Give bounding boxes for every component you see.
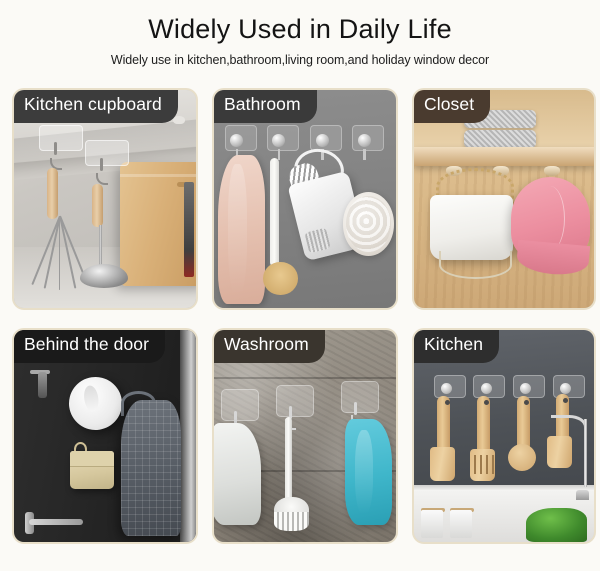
ladle: [80, 264, 128, 288]
wall-hook: [441, 383, 452, 394]
brush-head: [263, 262, 298, 295]
slotted-turner: [477, 396, 490, 455]
scenario-panel-behind-the-door[interactable]: Behind the door: [12, 328, 198, 544]
spatula-blade: [547, 436, 572, 468]
page-subtitle: Widely use in kitchen,bathroom,living ro…: [0, 53, 600, 67]
scenario-panel-bathroom[interactable]: Bathroom: [212, 88, 398, 310]
scenario-panel-closet[interactable]: Closet: [412, 88, 596, 310]
scenario-panel-kitchen-cupboard[interactable]: Kitchen cupboard: [12, 88, 198, 310]
scrub-brush-handle: [285, 417, 292, 502]
fresh-herbs: [526, 508, 587, 542]
door-handle: [29, 519, 84, 525]
adhesive-sticker: [85, 140, 129, 166]
scenario-panel-kitchen[interactable]: Kitchen: [412, 328, 596, 544]
wall-hook: [316, 134, 329, 147]
page-header: Widely Used in Daily Life Widely use in …: [0, 0, 600, 67]
plaid-coat: [121, 400, 181, 536]
body-brush: [270, 158, 279, 267]
wall-hook: [173, 116, 185, 124]
panel-label-kitchen: Kitchen: [412, 328, 499, 363]
door-lock: [38, 372, 47, 398]
panel-label-bathroom: Bathroom: [212, 88, 317, 123]
wall-hook: [358, 134, 371, 147]
page-title: Widely Used in Daily Life: [0, 14, 600, 44]
storage-jar: [421, 510, 443, 538]
photo-closet: [414, 90, 594, 308]
teal-towel: [345, 419, 392, 525]
shoulder-bag: [430, 195, 513, 260]
scenario-panel-washroom[interactable]: Washroom: [212, 328, 398, 544]
whisk-handle: [47, 168, 58, 218]
usage-scenario-grid: Kitchen cupboard Bathroom: [12, 88, 592, 544]
whisk: [36, 216, 82, 290]
spoon-bowl: [508, 444, 536, 471]
wall-hook: [272, 134, 285, 147]
turner-blade: [430, 447, 455, 481]
panel-label-closet: Closet: [412, 88, 490, 123]
loofah: [343, 192, 394, 255]
white-cloth: [214, 423, 261, 525]
adhesive-sticker: [221, 389, 259, 421]
wall-hook: [544, 166, 560, 176]
adhesive-sticker: [39, 125, 83, 151]
hanging-towel: [218, 155, 265, 303]
panel-label-behind-the-door: Behind the door: [12, 328, 165, 363]
panel-label-washroom: Washroom: [212, 328, 325, 363]
adhesive-sticker: [341, 381, 379, 413]
photo-kitchen-cupboard: [14, 90, 196, 308]
storage-jar: [450, 510, 472, 538]
wall-hook: [230, 134, 243, 147]
knife: [184, 182, 194, 278]
adhesive-sticker: [276, 385, 314, 417]
wall-hook: [560, 383, 571, 394]
panel-label-kitchen-cupboard: Kitchen cupboard: [12, 88, 178, 123]
wall-hook: [481, 383, 492, 394]
faucet: [584, 419, 587, 487]
photo-bathroom: [214, 90, 396, 308]
ladle-handle: [92, 184, 103, 228]
